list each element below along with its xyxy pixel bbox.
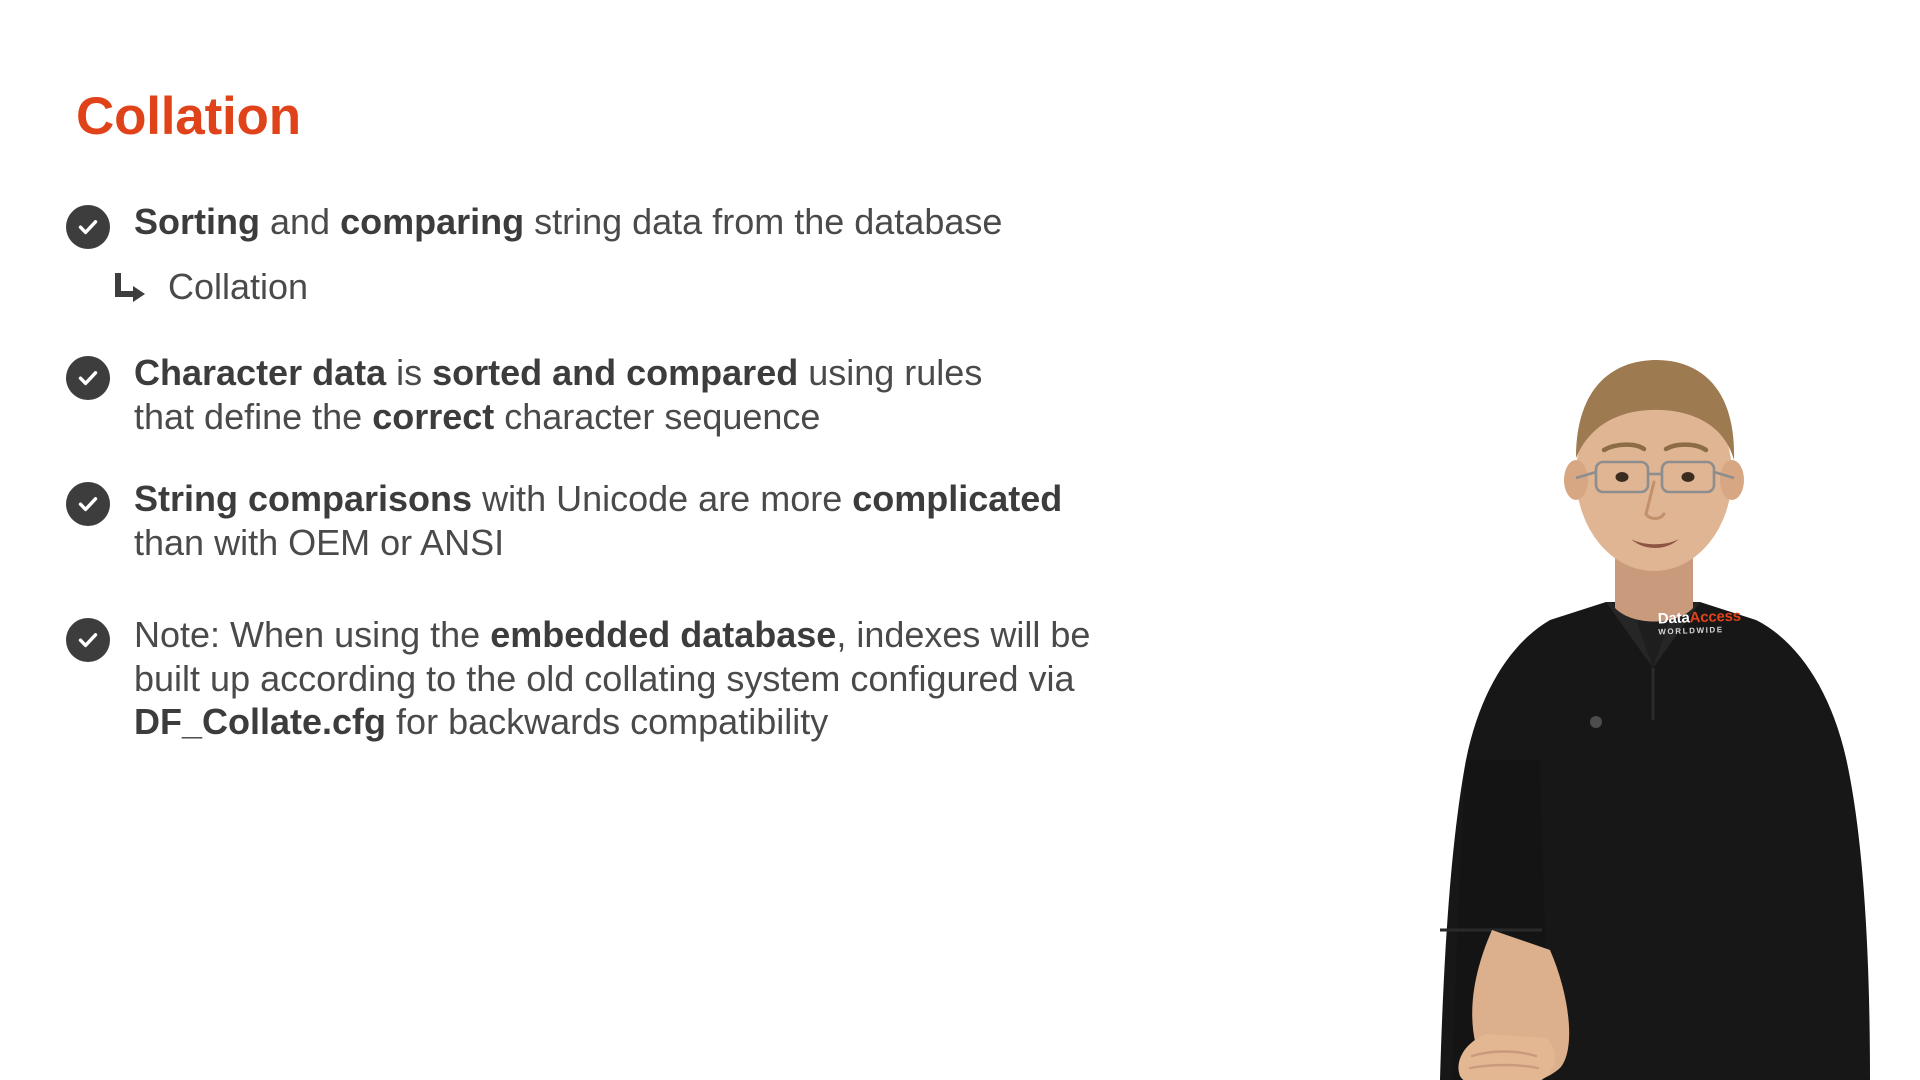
text-segment: correct bbox=[372, 396, 494, 437]
list-item: String comparisons with Unicode are more… bbox=[66, 477, 1386, 565]
list-item-text: Sorting and comparing string data from t… bbox=[134, 200, 1002, 244]
list-item: Sorting and comparing string data from t… bbox=[66, 200, 1386, 249]
text-segment: comparing bbox=[340, 201, 524, 242]
shirt-logo: DataAccess WORLDWIDE bbox=[1658, 609, 1742, 637]
list-item: Character data is sorted and compared us… bbox=[66, 351, 1386, 439]
text-segment: Sorting bbox=[134, 201, 260, 242]
check-circle-icon bbox=[66, 482, 110, 526]
text-segment: Character data bbox=[134, 352, 386, 393]
list-item: Note: When using the embedded database, … bbox=[66, 613, 1386, 745]
text-segment: DF_Collate.cfg bbox=[134, 701, 386, 742]
arrow-down-right-icon bbox=[112, 269, 152, 313]
shirt-logo-wordmark: DataAccess bbox=[1658, 609, 1742, 627]
text-segment: is bbox=[386, 352, 432, 393]
list-item-text: Character data is sorted and compared us… bbox=[134, 351, 1044, 439]
text-segment: complicated bbox=[852, 478, 1062, 519]
presenter-video-overlay: DataAccess WORLDWIDE bbox=[1400, 290, 1920, 1080]
shirt-logo-word-access: Access bbox=[1689, 608, 1741, 627]
shirt-logo-word-data: Data bbox=[1658, 609, 1690, 627]
text-segment: and bbox=[260, 201, 340, 242]
text-segment: Note: When using the bbox=[134, 614, 490, 655]
text-segment: embedded database bbox=[490, 614, 836, 655]
slide-canvas: Collation Sorting and comparing string d… bbox=[0, 0, 1920, 1080]
text-segment: sorted and compared bbox=[432, 352, 798, 393]
list-item-text: String comparisons with Unicode are more… bbox=[134, 477, 1134, 565]
bullet-list: Sorting and comparing string data from t… bbox=[66, 200, 1386, 744]
text-segment: than with OEM or ANSI bbox=[134, 522, 504, 563]
check-circle-icon bbox=[66, 356, 110, 400]
text-segment: with Unicode are more bbox=[472, 478, 852, 519]
text-segment: string data from the database bbox=[524, 201, 1002, 242]
check-circle-icon bbox=[66, 205, 110, 249]
sub-list-item-label: Collation bbox=[168, 265, 308, 309]
text-segment: String comparisons bbox=[134, 478, 472, 519]
page-title: Collation bbox=[76, 88, 301, 146]
text-segment: for backwards compatibility bbox=[386, 701, 828, 742]
check-circle-icon bbox=[66, 618, 110, 662]
list-item-text: Note: When using the embedded database, … bbox=[134, 613, 1144, 745]
sub-list-item: Collation bbox=[112, 265, 1386, 313]
text-segment: character sequence bbox=[494, 396, 820, 437]
shirt-logo-tagline: WORLDWIDE bbox=[1658, 626, 1741, 637]
